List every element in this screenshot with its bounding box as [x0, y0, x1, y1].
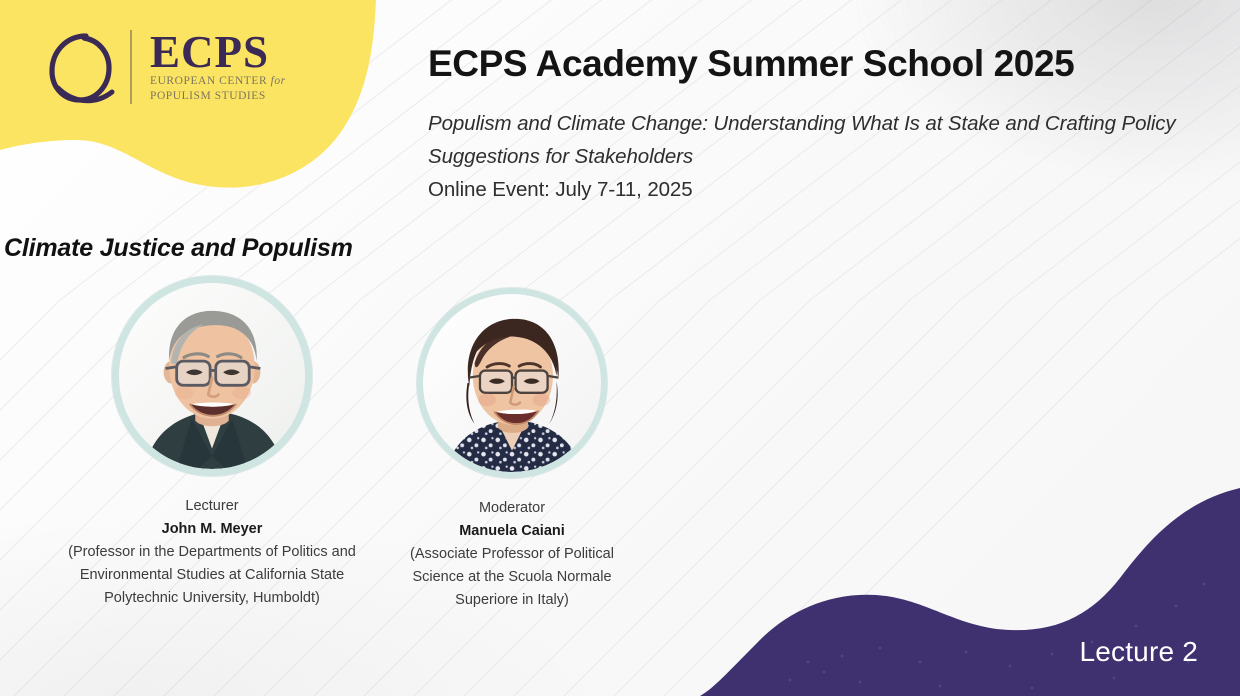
event-date: Online Event: July 7-11, 2025 — [428, 173, 1208, 206]
event-title: ECPS Academy Summer School 2025 — [428, 44, 1208, 84]
lecture-topic-title: Climate Justice and Populism — [4, 234, 353, 263]
person-moderator: Moderator Manuela Caiani (Associate Prof… — [392, 288, 632, 612]
person-role: Moderator — [392, 497, 632, 520]
person-lecturer: Lecturer John M. Meyer (Professor in the… — [68, 276, 356, 610]
logo-divider — [130, 30, 132, 104]
avatar — [423, 294, 601, 472]
ecps-q-monogram-icon — [42, 26, 120, 108]
event-subtitle: Populism and Climate Change: Understandi… — [428, 107, 1188, 173]
logo-subtitle-line2: POPULISM STUDIES — [150, 90, 266, 102]
logo-subtitle-line1: EUROPEAN CENTER — [150, 75, 267, 87]
avatar-ring — [112, 276, 312, 476]
portrait-manuela-caiani-image — [423, 294, 601, 472]
slide-header: ECPS Academy Summer School 2025 Populism… — [428, 44, 1208, 207]
logo-text-block: ECPS EUROPEAN CENTER for POPULISM STUDIE… — [142, 30, 286, 104]
person-name: Manuela Caiani — [392, 520, 632, 543]
avatar — [119, 283, 305, 469]
presentation-slide: ECPS EUROPEAN CENTER for POPULISM STUDIE… — [0, 0, 1240, 696]
logo-subtitle-for: for — [271, 75, 286, 87]
person-affiliation: (Professor in the Departments of Politic… — [68, 541, 356, 610]
ecps-logo: ECPS EUROPEAN CENTER for POPULISM STUDIE… — [42, 26, 286, 108]
lecture-number-badge: Lecture 2 — [1079, 636, 1198, 668]
logo-acronym: ECPS — [150, 30, 286, 74]
person-name: John M. Meyer — [68, 518, 356, 541]
logo-subtitle: EUROPEAN CENTER for POPULISM STUDIES — [150, 74, 286, 103]
person-role: Lecturer — [68, 495, 356, 518]
avatar-ring — [417, 288, 607, 478]
person-affiliation: (Associate Professor of Political Scienc… — [392, 543, 632, 612]
portrait-john-m-meyer-image — [119, 283, 305, 469]
